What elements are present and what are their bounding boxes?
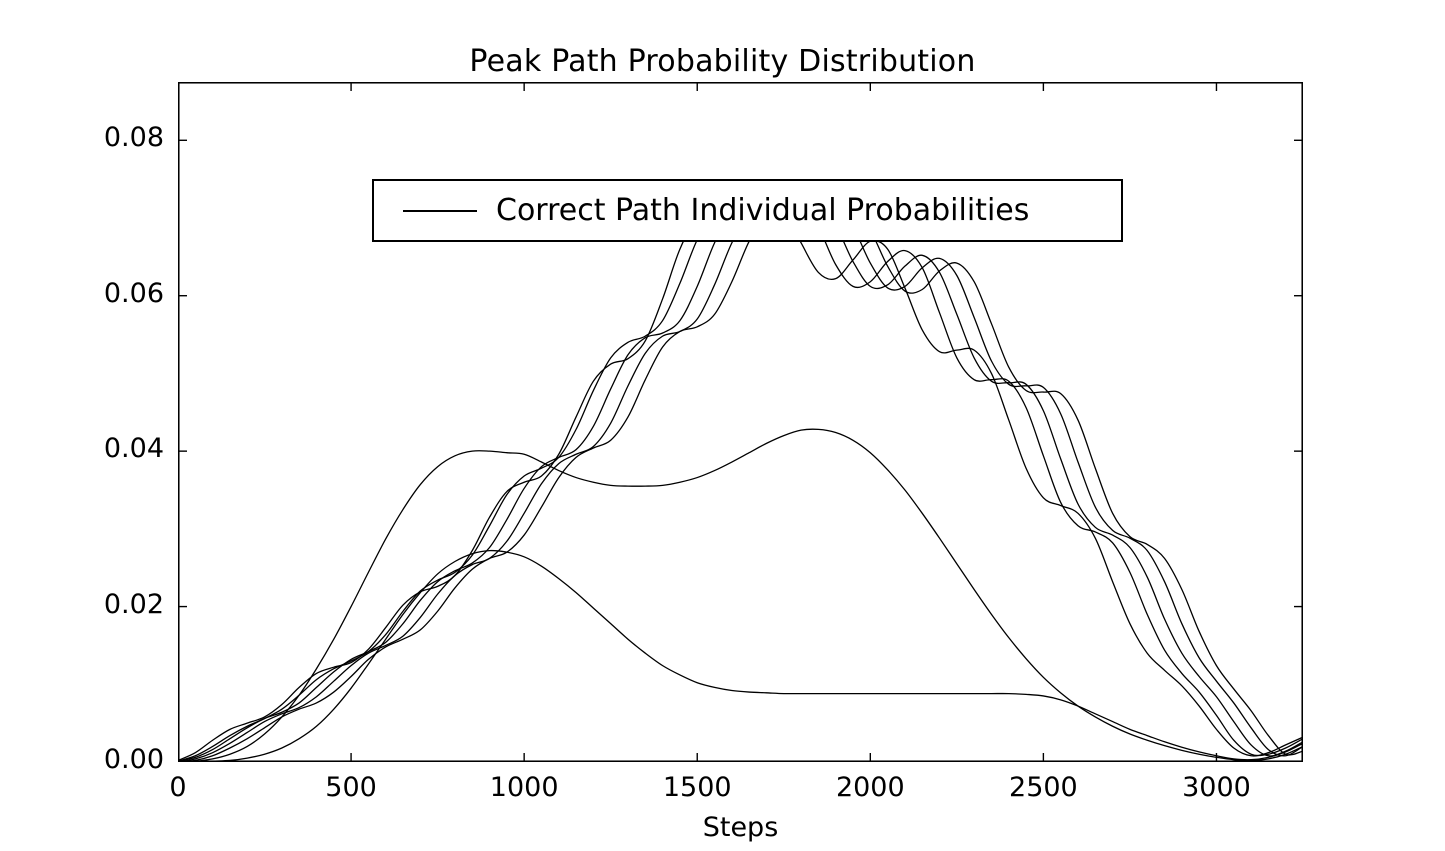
y-tick-label: 0.02 [104, 589, 164, 620]
line-icon [403, 210, 477, 212]
x-tick-label: 2000 [836, 772, 905, 803]
x-axis-tick-labels: 050010001500200025003000 [0, 772, 1445, 812]
x-tick-label: 1000 [490, 772, 559, 803]
legend: Correct Path Individual Probabilities [372, 179, 1123, 242]
x-axis-label: Steps [178, 812, 1303, 843]
x-tick-label: 0 [169, 772, 186, 803]
series-line [178, 204, 1303, 762]
x-tick-label: 2500 [1009, 772, 1078, 803]
series-line [178, 201, 1303, 761]
series-line [178, 204, 1303, 761]
x-tick-label: 500 [325, 772, 377, 803]
y-tick-label: 0.06 [104, 278, 164, 309]
x-tick-label: 1500 [663, 772, 732, 803]
legend-line-swatch [390, 210, 490, 212]
x-tick-label: 3000 [1182, 772, 1251, 803]
plot-area: Correct Path Individual Probabilities [178, 82, 1303, 762]
y-tick-label: 0.00 [104, 744, 164, 775]
y-tick-label: 0.08 [104, 122, 164, 153]
y-tick-label: 0.04 [104, 433, 164, 464]
chart-figure: Peak Path Probability Distribution 0.000… [0, 0, 1445, 851]
page-title: Peak Path Probability Distribution [0, 44, 1445, 79]
series-line [178, 204, 1303, 761]
series-line [178, 206, 1303, 762]
y-axis-tick-labels: 0.000.020.040.060.08 [0, 0, 164, 851]
legend-item-label: Correct Path Individual Probabilities [496, 193, 1029, 228]
legend-row: Correct Path Individual Probabilities [374, 181, 1121, 240]
series-group [178, 201, 1303, 762]
series-line [178, 429, 1303, 762]
